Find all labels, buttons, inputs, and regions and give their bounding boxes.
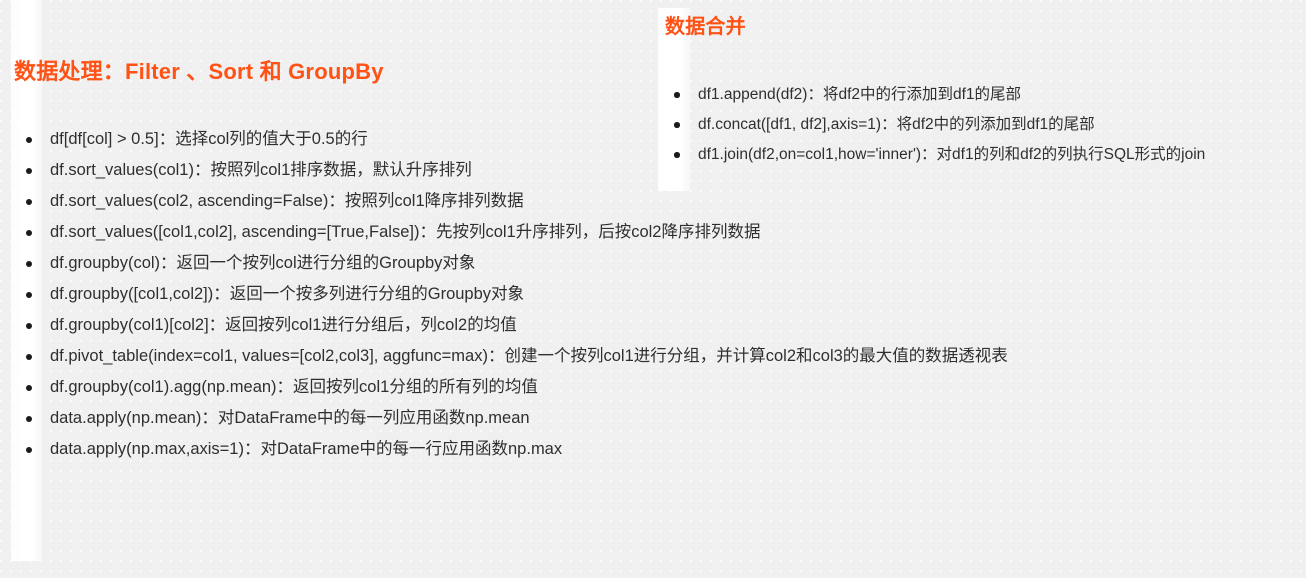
bullet-dot-icon <box>674 152 680 158</box>
list-item: df.pivot_table(index=col1, values=[col2,… <box>0 341 1160 372</box>
list-item: df.sort_values([col1,col2], ascending=[T… <box>0 217 1180 248</box>
list-item: df.groupby(col)：返回一个按列col进行分组的Groupby对象 <box>0 248 1180 279</box>
list-item: df.sort_values(col2, ascending=False)：按照… <box>0 186 1180 217</box>
list-item-text: df.sort_values(col1)：按照列col1排序数据，默认升序排列 <box>50 161 472 179</box>
list-item: data.apply(np.max,axis=1)：对DataFrame中的每一… <box>0 434 1180 465</box>
list-item: data.apply(np.mean)：对DataFrame中的每一列应用函数n… <box>0 403 1180 434</box>
list-item-text: df.groupby(col)：返回一个按列col进行分组的Groupby对象 <box>50 254 475 272</box>
bullet-dot-icon <box>26 168 32 174</box>
list-item-text: df.groupby(col1).agg(np.mean)：返回按列col1分组… <box>50 378 538 396</box>
data-merge-heading: 数据合并 <box>665 14 746 40</box>
list-item-text: data.apply(np.max,axis=1)：对DataFrame中的每一… <box>50 440 562 458</box>
bullet-dot-icon <box>26 447 32 453</box>
list-item: df1.append(df2)：将df2中的行添加到df1的尾部 <box>648 80 1298 110</box>
bullet-dot-icon <box>26 137 32 143</box>
list-item-text: df1.append(df2)：将df2中的行添加到df1的尾部 <box>698 86 1021 103</box>
list-item-text: df.groupby([col1,col2])：返回一个按多列进行分组的Grou… <box>50 285 524 303</box>
list-item-text: data.apply(np.mean)：对DataFrame中的每一列应用函数n… <box>50 409 530 427</box>
list-item-text: df.sort_values([col1,col2], ascending=[T… <box>50 223 760 241</box>
list-item-text: df.pivot_table(index=col1, values=[col2,… <box>50 341 1160 372</box>
bullet-dot-icon <box>26 416 32 422</box>
list-item-text: df.groupby(col1)[col2]：返回按列col1进行分组后，列co… <box>50 316 517 334</box>
bullet-dot-icon <box>26 199 32 205</box>
list-item-text: df.sort_values(col2, ascending=False)：按照… <box>50 192 524 210</box>
list-item-text: df1.join(df2,on=col1,how='inner')：对df1的列… <box>698 146 1205 163</box>
data-processing-bullet-list: df[df[col] > 0.5]：选择col列的值大于0.5的行 df.sor… <box>0 124 1180 465</box>
list-item: df1.join(df2,on=col1,how='inner')：对df1的列… <box>648 140 1298 170</box>
list-item: df.groupby(col1).agg(np.mean)：返回按列col1分组… <box>0 372 1180 403</box>
list-item-text: df[df[col] > 0.5]：选择col列的值大于0.5的行 <box>50 130 368 148</box>
data-processing-heading: 数据处理：Filter 、Sort 和 GroupBy <box>14 58 384 86</box>
bullet-dot-icon <box>26 354 32 360</box>
bullet-dot-icon <box>26 385 32 391</box>
bullet-dot-icon <box>26 230 32 236</box>
list-item-text: df.concat([df1, df2],axis=1)：将df2中的列添加到d… <box>698 116 1095 133</box>
list-item: df.concat([df1, df2],axis=1)：将df2中的列添加到d… <box>648 110 1298 140</box>
bullet-dot-icon <box>26 323 32 329</box>
bullet-dot-icon <box>674 92 680 98</box>
bullet-dot-icon <box>26 292 32 298</box>
list-item: df.groupby([col1,col2])：返回一个按多列进行分组的Grou… <box>0 279 1180 310</box>
bullet-dot-icon <box>26 261 32 267</box>
data-merge-bullet-list: df1.append(df2)：将df2中的行添加到df1的尾部 df.conc… <box>648 80 1298 170</box>
bullet-dot-icon <box>674 122 680 128</box>
list-item: df.groupby(col1)[col2]：返回按列col1进行分组后，列co… <box>0 310 1180 341</box>
